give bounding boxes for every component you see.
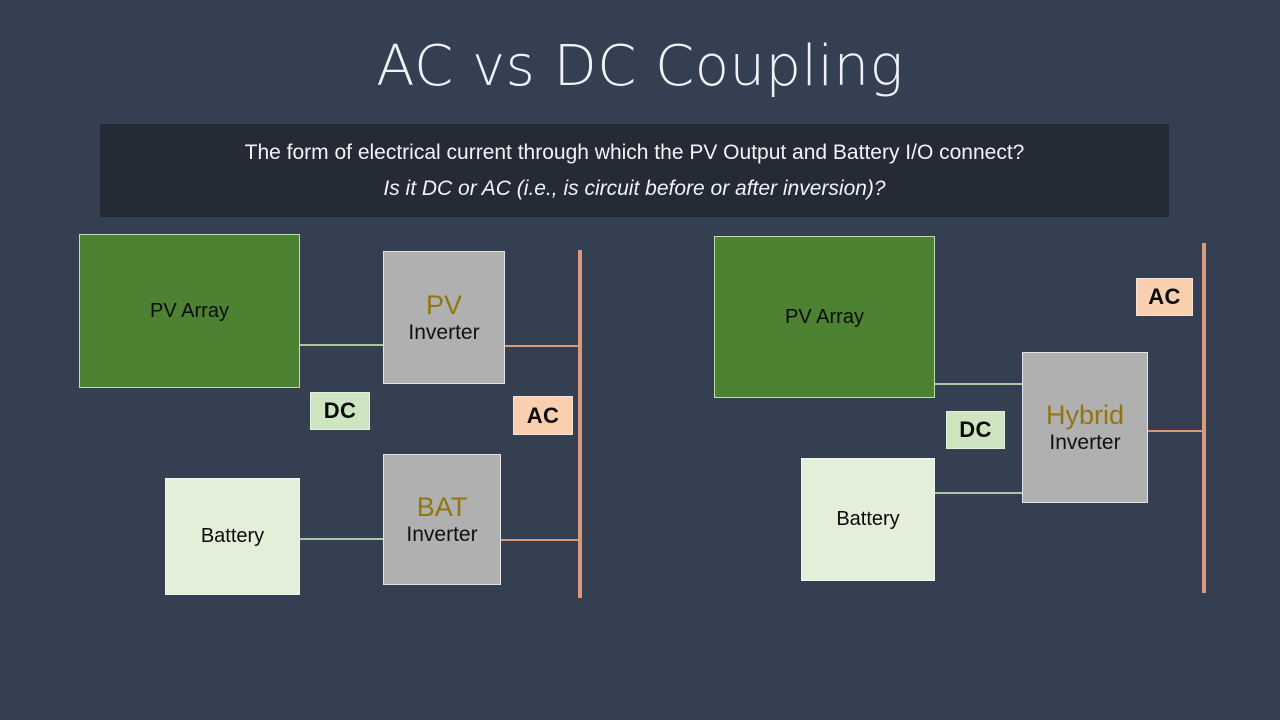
question-banner: The form of electrical current through w… [100,124,1169,217]
tag-dc-right: DC [946,411,1005,449]
tag-label: AC [527,403,559,429]
inverter-kind-label: PV [426,290,462,321]
tag-dc-left: DC [310,392,370,430]
node-label: Battery [836,508,899,531]
node-battery-right[interactable]: Battery [801,458,935,581]
page-title: AC vs DC Coupling [0,36,1280,98]
node-label: Battery [201,525,264,548]
wire-hybrid-inverter-to-bus [1148,430,1206,432]
wire-battery-to-hybrid-inverter [934,492,1024,494]
banner-question-line: The form of electrical current through w… [245,141,1025,165]
tag-label: AC [1148,284,1180,310]
inverter-word-label: Inverter [406,523,477,547]
inverter-kind-label: Hybrid [1046,400,1124,431]
wire-pv-array-to-pv-inverter [300,344,384,346]
inverter-kind-label: BAT [417,492,468,523]
tag-ac-right: AC [1136,278,1193,316]
banner-subquestion-line: Is it DC or AC (i.e., is circuit before … [383,177,885,201]
tag-label: DC [959,417,991,443]
node-label: PV Array [785,306,864,329]
inverter-word-label: Inverter [408,321,479,345]
tag-label: DC [324,398,356,424]
inverter-word-label: Inverter [1049,431,1120,455]
wire-pv-array-to-hybrid-inverter [934,383,1024,385]
wire-battery-to-bat-inverter [300,538,384,540]
tag-ac-left: AC [513,396,573,435]
wire-bat-inverter-to-bus [500,539,582,541]
node-pv-array-left[interactable]: PV Array [79,234,300,388]
wire-pv-inverter-to-bus [504,345,582,347]
node-label: PV Array [150,300,229,323]
ac-bus-line-left [578,250,582,598]
slide-canvas: AC vs DC Coupling The form of electrical… [0,0,1280,720]
node-hybrid-inverter[interactable]: Hybrid Inverter [1022,352,1148,503]
node-pv-array-right[interactable]: PV Array [714,236,935,398]
ac-bus-line-right [1202,243,1206,593]
node-bat-inverter[interactable]: BAT Inverter [383,454,501,585]
node-pv-inverter[interactable]: PV Inverter [383,251,505,384]
node-battery-left[interactable]: Battery [165,478,300,595]
